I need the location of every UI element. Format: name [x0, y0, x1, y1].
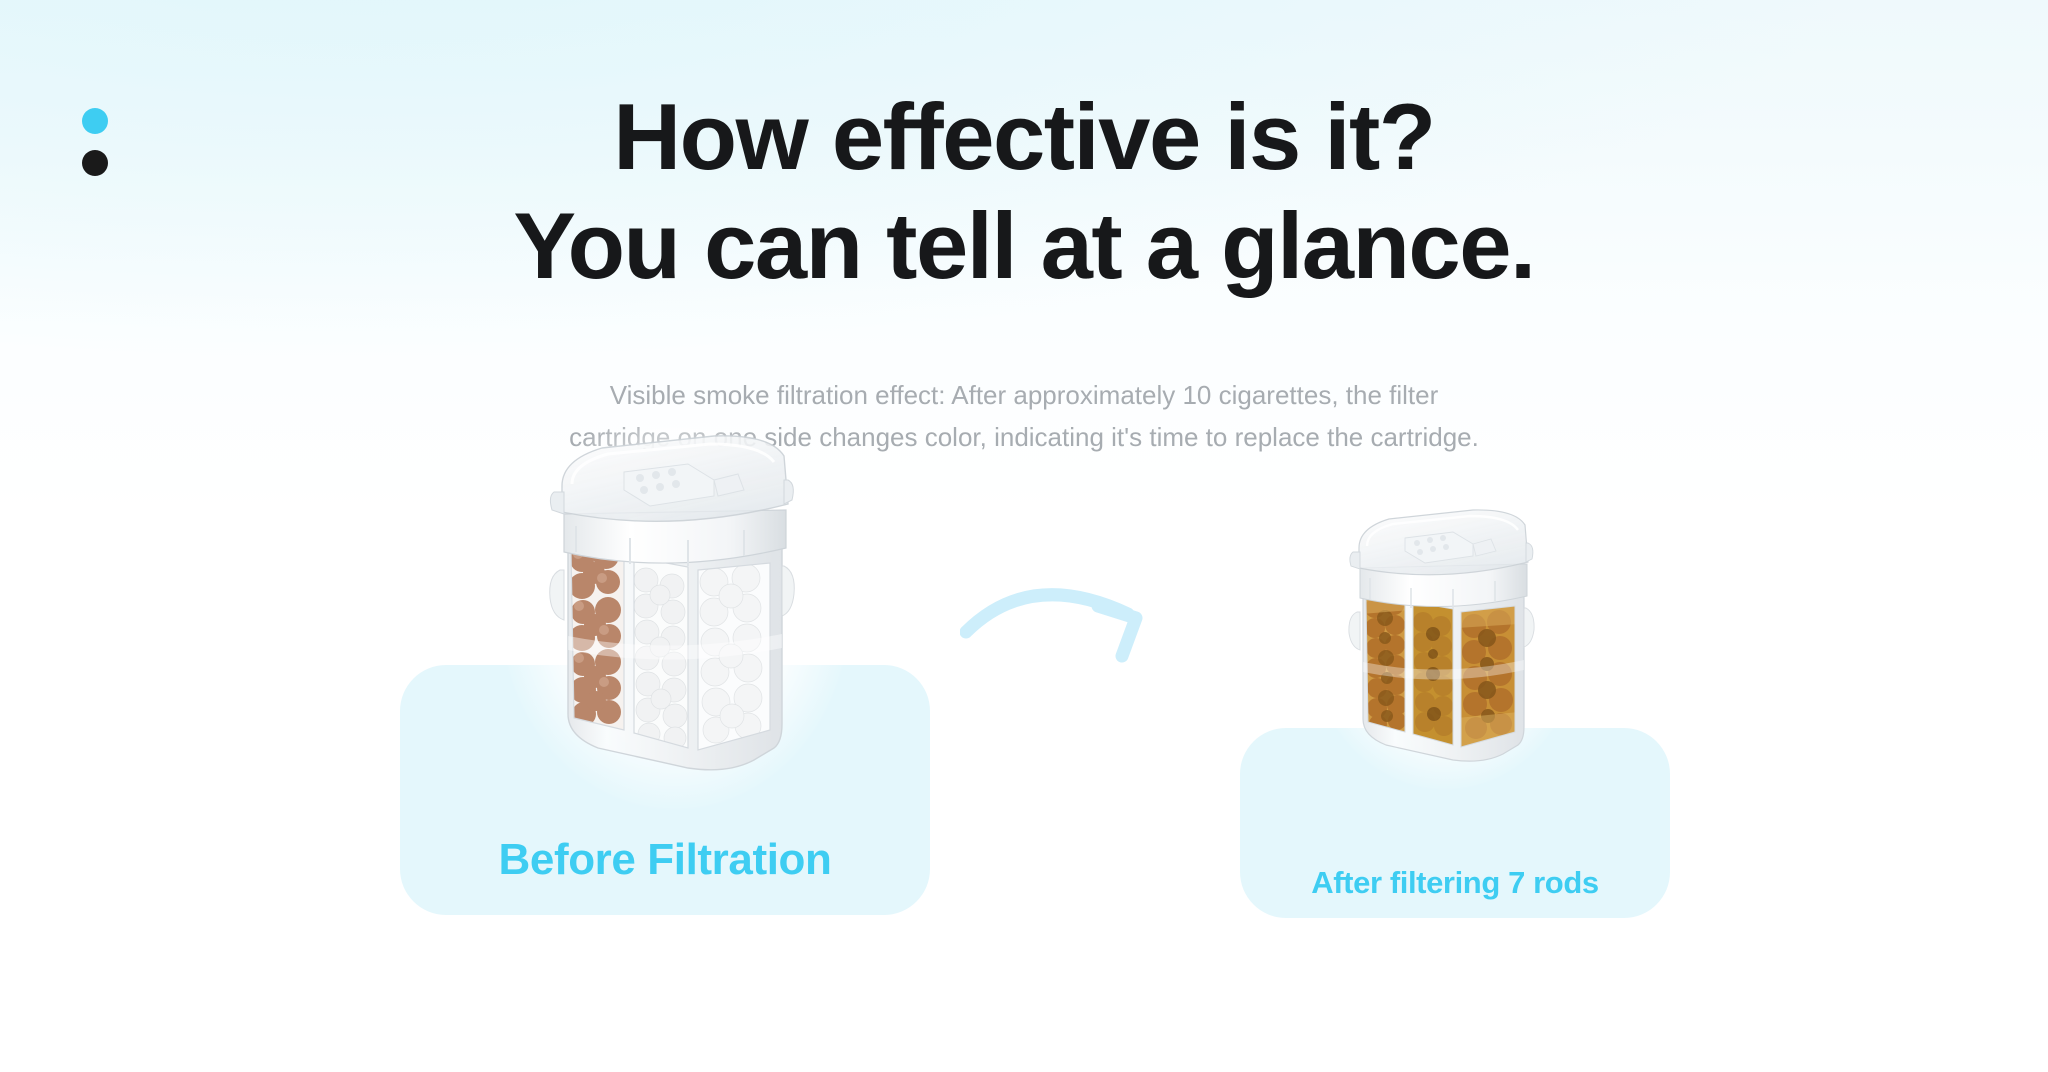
page-title-line-1: How effective is it? [0, 82, 2048, 191]
page-title-line-2: You can tell at a glance. [0, 191, 2048, 300]
page-background: How effective is it? You can tell at a g… [0, 0, 2048, 1072]
after-filtration-label: After filtering 7 rods [1240, 865, 1670, 901]
curved-arrow-right-icon [960, 560, 1210, 690]
before-filtration-label: Before Filtration [400, 835, 930, 885]
filter-cartridge-used-icon [1341, 506, 1543, 768]
comparison-section: Before Filtration After filtering 7 rods [0, 530, 2048, 950]
page-subtitle-line-1: Visible smoke filtration effect: After a… [444, 374, 1604, 416]
filter-cartridge-clean-icon [538, 430, 808, 778]
page-title: How effective is it? You can tell at a g… [0, 82, 2048, 300]
